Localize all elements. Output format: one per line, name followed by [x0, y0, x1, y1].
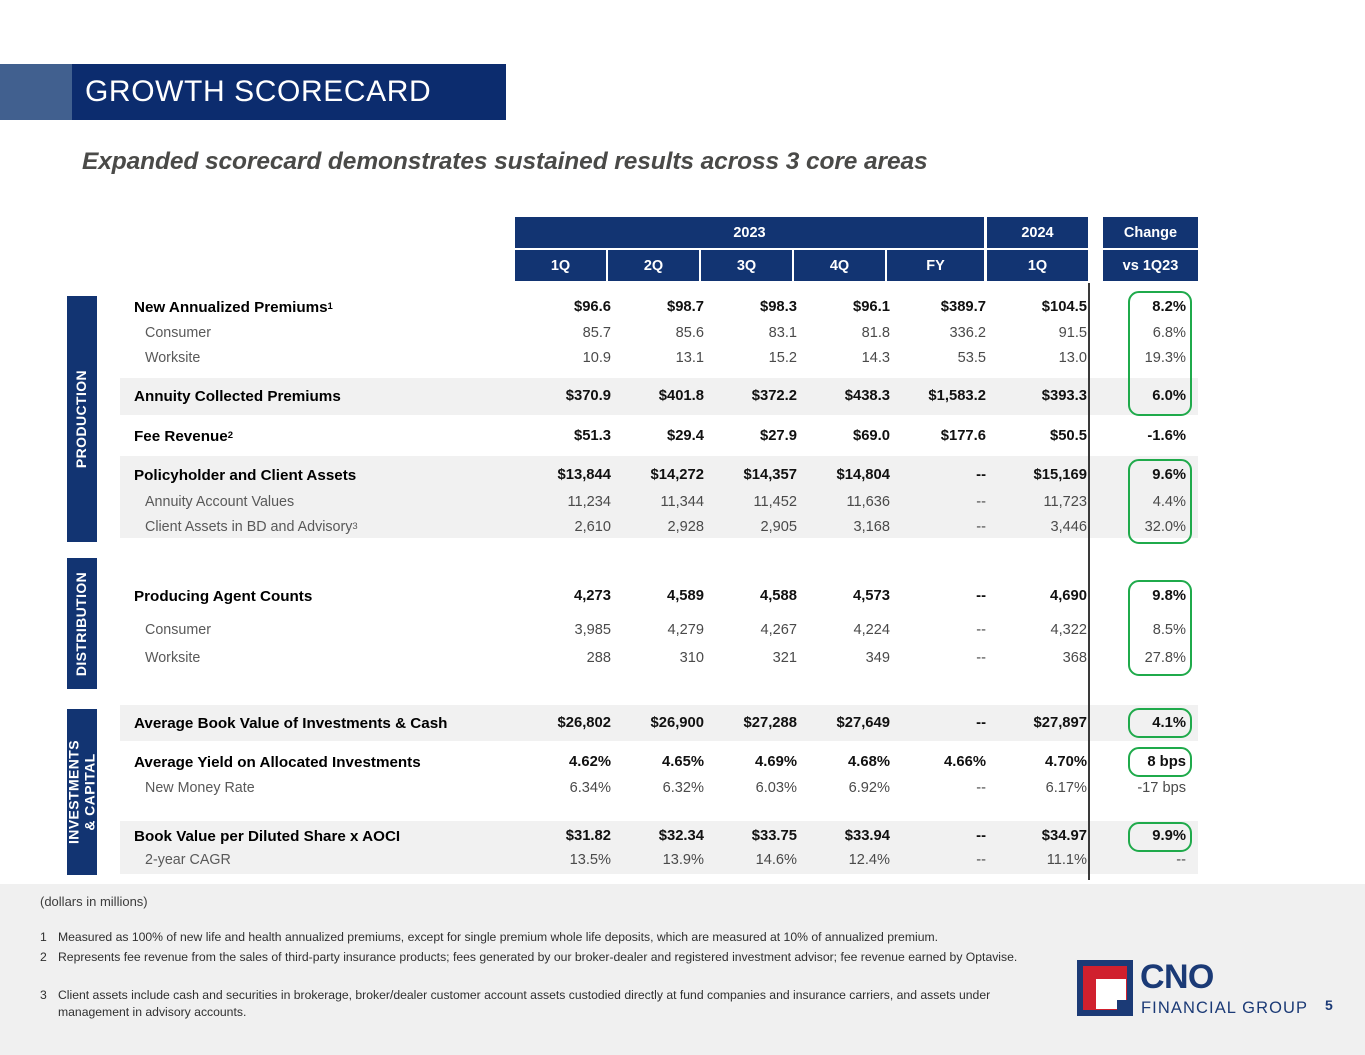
cell: 13.1	[608, 346, 704, 370]
cell: $389.7	[890, 295, 986, 319]
cell: 2,905	[701, 515, 797, 539]
footnote-2: 2 Represents fee revenue from the sales …	[40, 949, 1030, 966]
cell-change: --	[1090, 848, 1186, 872]
table-row: New Annualized Premiums1 $96.6 $98.7 $98…	[120, 295, 1198, 319]
column-header-change-vs-1q23: vs 1Q23	[1103, 250, 1198, 281]
row-label: New Annualized Premiums1	[134, 295, 333, 319]
cell-change: 9.9%	[1090, 824, 1186, 848]
cell: $98.7	[608, 295, 704, 319]
column-header-label: FY	[926, 258, 945, 274]
cell: --	[890, 515, 986, 539]
cno-logo-mark-icon	[1077, 960, 1133, 1016]
table-row: Worksite 288 310 321 349 -- 368 27.8%	[120, 646, 1198, 670]
column-header-label: vs 1Q23	[1123, 258, 1179, 274]
cell: 6.92%	[794, 776, 890, 800]
footnote-1: 1 Measured as 100% of new life and healt…	[40, 929, 1030, 946]
cell-change: 6.8%	[1090, 321, 1186, 345]
cell: 12.4%	[794, 848, 890, 872]
footnote-number: 1	[40, 929, 47, 946]
cell: $27.9	[701, 424, 797, 448]
row-label: Book Value per Diluted Share x AOCI	[134, 824, 400, 848]
cell: $29.4	[608, 424, 704, 448]
row-label: New Money Rate	[145, 776, 255, 800]
cell: --	[890, 824, 986, 848]
cell: $26,900	[608, 711, 704, 735]
column-group-2024: 2024	[987, 217, 1088, 248]
cell: $401.8	[608, 384, 704, 408]
cell: $372.2	[701, 384, 797, 408]
cell-change: 19.3%	[1090, 346, 1186, 370]
cell: 3,985	[515, 618, 611, 642]
category-bar-investments-capital: INVESTMENTS& CAPITAL	[67, 709, 97, 875]
logo-tagline: FINANCIAL GROUP	[1141, 999, 1308, 1018]
table-row: Annuity Collected Premiums $370.9 $401.8…	[120, 384, 1198, 408]
column-header-label: 3Q	[737, 258, 756, 274]
cell-change: 8 bps	[1090, 750, 1186, 774]
row-label: Annuity Collected Premiums	[134, 384, 341, 408]
table-row: Consumer 85.7 85.6 83.1 81.8 336.2 91.5 …	[120, 321, 1198, 345]
cell: $14,804	[794, 463, 890, 487]
cell: 3,168	[794, 515, 890, 539]
cell: 6.17%	[991, 776, 1087, 800]
cell: 4,322	[991, 618, 1087, 642]
cell: --	[890, 646, 986, 670]
cell: 4.66%	[890, 750, 986, 774]
cell: 4.62%	[515, 750, 611, 774]
cell: 6.34%	[515, 776, 611, 800]
table-row: Client Assets in BD and Advisory3 2,610 …	[120, 515, 1198, 539]
cell: $96.1	[794, 295, 890, 319]
cell: 13.9%	[608, 848, 704, 872]
cell: 11,344	[608, 490, 704, 514]
cell: 14.3	[794, 346, 890, 370]
row-label: Average Yield on Allocated Investments	[134, 750, 421, 774]
cell: 4,224	[794, 618, 890, 642]
row-label: Producing Agent Counts	[134, 584, 312, 608]
cell: 4,273	[515, 584, 611, 608]
column-header-label: 1Q	[551, 258, 570, 274]
cell: 4,589	[608, 584, 704, 608]
cell: 11,636	[794, 490, 890, 514]
cell: $15,169	[991, 463, 1087, 487]
column-header-label: 4Q	[830, 258, 849, 274]
cell: 4,267	[701, 618, 797, 642]
cell: 2,928	[608, 515, 704, 539]
table-row: New Money Rate 6.34% 6.32% 6.03% 6.92% -…	[120, 776, 1198, 800]
cell: 11,723	[991, 490, 1087, 514]
column-header-fy-2023: FY	[887, 250, 984, 281]
cell: 2,610	[515, 515, 611, 539]
cell: 6.32%	[608, 776, 704, 800]
cell: $69.0	[794, 424, 890, 448]
cell-change: -1.6%	[1090, 424, 1186, 448]
table-row: 2-year CAGR 13.5% 13.9% 14.6% 12.4% -- 1…	[120, 848, 1198, 872]
cell: --	[890, 848, 986, 872]
cell: 53.5	[890, 346, 986, 370]
logo-square-white	[1096, 979, 1126, 1009]
group-header-label: Change	[1124, 225, 1177, 241]
cell-change: 9.6%	[1090, 463, 1186, 487]
cell-change: 6.0%	[1090, 384, 1186, 408]
cell: $14,272	[608, 463, 704, 487]
cell: $26,802	[515, 711, 611, 735]
change-column-divider	[1088, 283, 1090, 880]
cell: 349	[794, 646, 890, 670]
row-label: Consumer	[145, 321, 211, 345]
column-header-2q-2023: 2Q	[608, 250, 699, 281]
cell-change: 27.8%	[1090, 646, 1186, 670]
category-label: INVESTMENTS& CAPITAL	[66, 740, 97, 844]
cell: --	[890, 711, 986, 735]
cell: 368	[991, 646, 1087, 670]
cell: 3,446	[991, 515, 1087, 539]
cell: 11,234	[515, 490, 611, 514]
column-group-change: Change	[1103, 217, 1198, 248]
table-row: Producing Agent Counts 4,273 4,589 4,588…	[120, 584, 1198, 608]
cell: 288	[515, 646, 611, 670]
cell: $50.5	[991, 424, 1087, 448]
logo-square-navy-center	[1117, 1000, 1131, 1014]
page-number: 5	[1325, 997, 1333, 1013]
cell: 91.5	[991, 321, 1087, 345]
group-header-label: 2024	[1021, 225, 1053, 241]
cell: 85.7	[515, 321, 611, 345]
cell-change: 8.5%	[1090, 618, 1186, 642]
cell: $438.3	[794, 384, 890, 408]
row-label: Average Book Value of Investments & Cash	[134, 711, 447, 735]
cell: $104.5	[991, 295, 1087, 319]
footnote-number: 3	[40, 987, 47, 1004]
cell: $27,897	[991, 711, 1087, 735]
units-note: (dollars in millions)	[40, 894, 148, 909]
cell: --	[890, 618, 986, 642]
footnote-3: 3 Client assets include cash and securit…	[40, 987, 1030, 1021]
category-label: DISTRIBUTION	[74, 571, 90, 675]
cell: 81.8	[794, 321, 890, 345]
footnote-text: Represents fee revenue from the sales of…	[58, 949, 1030, 966]
cell-change: 8.2%	[1090, 295, 1186, 319]
cell: $34.97	[991, 824, 1087, 848]
cell: $370.9	[515, 384, 611, 408]
cell: 4.70%	[991, 750, 1087, 774]
cell-change: 9.8%	[1090, 584, 1186, 608]
footnote-text: Client assets include cash and securitie…	[58, 987, 1030, 1021]
cell: 14.6%	[701, 848, 797, 872]
cell: 11,452	[701, 490, 797, 514]
column-header-1q-2024: 1Q	[987, 250, 1088, 281]
cell: $13,844	[515, 463, 611, 487]
cell: $31.82	[515, 824, 611, 848]
logo-wordmark: CNO	[1140, 958, 1214, 997]
cell: --	[890, 776, 986, 800]
table-row: Annuity Account Values 11,234 11,344 11,…	[120, 490, 1198, 514]
category-bar-production: PRODUCTION	[67, 296, 97, 542]
row-label: Client Assets in BD and Advisory3	[145, 515, 358, 539]
cell: 6.03%	[701, 776, 797, 800]
cell-change: 4.1%	[1090, 711, 1186, 735]
cell: 13.5%	[515, 848, 611, 872]
cell-change: -17 bps	[1090, 776, 1186, 800]
footnote-number: 2	[40, 949, 47, 966]
category-label: PRODUCTION	[74, 370, 90, 468]
cell: 4.65%	[608, 750, 704, 774]
row-label: Annuity Account Values	[145, 490, 294, 514]
column-header-label: 1Q	[1028, 258, 1047, 274]
cell: 4,690	[991, 584, 1087, 608]
cell: $33.94	[794, 824, 890, 848]
cell: $33.75	[701, 824, 797, 848]
cell: $1,583.2	[890, 384, 986, 408]
cell: $32.34	[608, 824, 704, 848]
column-header-label: 2Q	[644, 258, 663, 274]
cell: $27,649	[794, 711, 890, 735]
cell-change: 32.0%	[1090, 515, 1186, 539]
row-label: Worksite	[145, 646, 200, 670]
table-row: Fee Revenue2 $51.3 $29.4 $27.9 $69.0 $17…	[120, 424, 1198, 448]
cell: $393.3	[991, 384, 1087, 408]
cell: 10.9	[515, 346, 611, 370]
cell: 4,573	[794, 584, 890, 608]
cell: 15.2	[701, 346, 797, 370]
cell: --	[890, 463, 986, 487]
category-bar-distribution: DISTRIBUTION	[67, 558, 97, 689]
cell: --	[890, 584, 986, 608]
row-label: Fee Revenue2	[134, 424, 233, 448]
table-row: Average Book Value of Investments & Cash…	[120, 711, 1198, 735]
cell: 4,588	[701, 584, 797, 608]
column-header-3q-2023: 3Q	[701, 250, 792, 281]
table-row: Policyholder and Client Assets $13,844 $…	[120, 463, 1198, 487]
cell: $51.3	[515, 424, 611, 448]
row-label: Consumer	[145, 618, 211, 642]
table-row: Average Yield on Allocated Investments 4…	[120, 750, 1198, 774]
footnote-text: Measured as 100% of new life and health …	[58, 929, 1030, 946]
cell-change: 4.4%	[1090, 490, 1186, 514]
cell: $177.6	[890, 424, 986, 448]
cell: 83.1	[701, 321, 797, 345]
group-header-label: 2023	[733, 225, 765, 241]
cell: 4.69%	[701, 750, 797, 774]
row-label: Worksite	[145, 346, 200, 370]
cell: 13.0	[991, 346, 1087, 370]
cell: --	[890, 490, 986, 514]
column-header-1q-2023: 1Q	[515, 250, 606, 281]
table-row: Consumer 3,985 4,279 4,267 4,224 -- 4,32…	[120, 618, 1198, 642]
cell: $14,357	[701, 463, 797, 487]
cell: 4,279	[608, 618, 704, 642]
table-row: Book Value per Diluted Share x AOCI $31.…	[120, 824, 1198, 848]
column-header-4q-2023: 4Q	[794, 250, 885, 281]
cell: 336.2	[890, 321, 986, 345]
cell: $96.6	[515, 295, 611, 319]
column-group-2023: 2023	[515, 217, 984, 248]
cell: 321	[701, 646, 797, 670]
row-label: Policyholder and Client Assets	[134, 463, 356, 487]
cell: 310	[608, 646, 704, 670]
table-row: Worksite 10.9 13.1 15.2 14.3 53.5 13.0 1…	[120, 346, 1198, 370]
row-label: 2-year CAGR	[145, 848, 231, 872]
cell: 4.68%	[794, 750, 890, 774]
logo-square-red	[1083, 966, 1127, 1010]
cell: $98.3	[701, 295, 797, 319]
cell: 11.1%	[991, 848, 1087, 872]
cell: 85.6	[608, 321, 704, 345]
cell: $27,288	[701, 711, 797, 735]
